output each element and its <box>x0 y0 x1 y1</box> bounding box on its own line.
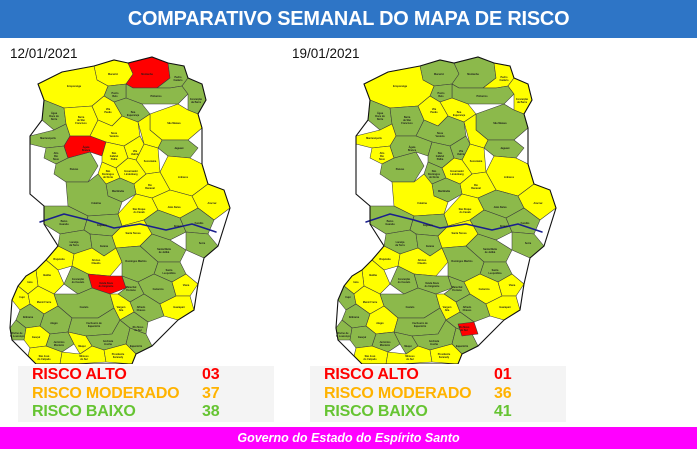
svg-text:Floriano: Floriano <box>126 289 136 292</box>
svg-text:Kennedy: Kennedy <box>113 356 124 359</box>
svg-text:Palha: Palha <box>437 158 444 161</box>
risk-low-value-right: 41 <box>494 403 554 421</box>
svg-text:Norte: Norte <box>377 118 384 121</box>
svg-text:Leopoldina: Leopoldina <box>489 272 503 275</box>
muni-serra <box>512 232 544 258</box>
svg-text:Castelo: Castelo <box>406 306 415 309</box>
svg-text:Palha: Palha <box>111 158 118 161</box>
svg-text:Ibitirama: Ibitirama <box>349 316 360 319</box>
svg-text:Canário: Canário <box>173 79 183 82</box>
svg-text:Itapemirim: Itapemirim <box>456 345 469 348</box>
svg-text:Mucurici: Mucurici <box>434 73 444 76</box>
page-footer: Governo do Estado do Espírito Santo <box>0 427 697 449</box>
svg-text:do Sul: do Sul <box>406 358 414 361</box>
svg-text:do Canaã: do Canaã <box>460 211 472 214</box>
svg-text:Itarana: Itarana <box>100 245 109 248</box>
svg-text:da Barra: da Barra <box>191 101 202 104</box>
stat-row-low-right: RISCO BAIXO 41 <box>310 403 566 422</box>
svg-text:Montanha: Montanha <box>141 73 153 76</box>
risk-high-label-right: RISCO ALTO <box>310 366 494 384</box>
svg-text:Ibiraçu: Ibiraçu <box>174 225 183 228</box>
svg-text:S. Lourenço: S. Lourenço <box>10 335 25 338</box>
svg-text:Itapemirim: Itapemirim <box>414 325 427 328</box>
svg-text:Bananal: Bananal <box>471 187 481 190</box>
svg-text:Lindenberg: Lindenberg <box>450 173 464 176</box>
svg-text:Belo: Belo <box>112 95 118 98</box>
svg-text:Guandu: Guandu <box>59 223 69 226</box>
stat-row-moderate-left: RISCO MODERADO 37 <box>18 385 274 404</box>
svg-text:Sooretama: Sooretama <box>144 160 157 163</box>
svg-text:Domingos Martins: Domingos Martins <box>451 260 473 263</box>
svg-text:Colatina: Colatina <box>417 202 427 205</box>
svg-text:Alegre: Alegre <box>50 322 58 325</box>
svg-text:Venécia: Venécia <box>109 135 119 138</box>
svg-text:Muniz Freire: Muniz Freire <box>37 301 52 304</box>
svg-text:Pancas: Pancas <box>396 168 405 171</box>
page-title: COMPARATIVO SEMANAL DO MAPA DE RISCO <box>128 7 570 31</box>
svg-text:Colatina: Colatina <box>91 202 101 205</box>
risk-low-label-right: RISCO BAIXO <box>310 403 494 421</box>
svg-text:Alta: Alta <box>119 309 124 312</box>
svg-text:Muniz Freire: Muniz Freire <box>363 301 378 304</box>
svg-text:Pinheiros: Pinheiros <box>476 95 488 98</box>
svg-text:Francisco: Francisco <box>75 122 87 125</box>
svg-text:Muqui: Muqui <box>404 345 411 348</box>
svg-text:Esperança: Esperança <box>453 114 466 117</box>
svg-text:do Sul: do Sul <box>80 358 88 361</box>
svg-text:Valério: Valério <box>457 153 466 156</box>
svg-text:Ecoporanga: Ecoporanga <box>393 85 408 88</box>
svg-text:Brejetuba: Brejetuba <box>53 258 65 261</box>
stat-row-high-right: RISCO ALTO 01 <box>310 366 566 385</box>
map-right-19-01: Mucurici Montanha Pedro Canário Pinheiro… <box>328 44 658 364</box>
risk-moderate-label-left: RISCO MODERADO <box>18 385 202 403</box>
svg-text:Itarana: Itarana <box>426 245 435 248</box>
svg-text:Montanha: Montanha <box>467 73 479 76</box>
svg-text:Monteiro: Monteiro <box>54 344 65 347</box>
svg-text:Mantenópolis: Mantenópolis <box>40 137 56 140</box>
stat-row-high-left: RISCO ALTO 03 <box>18 366 274 385</box>
svg-text:São Mateus: São Mateus <box>493 122 507 125</box>
svg-text:Iúna: Iúna <box>27 281 33 284</box>
svg-text:Castelo: Castelo <box>80 306 89 309</box>
svg-text:de Jetibá: de Jetibá <box>159 251 170 254</box>
svg-text:Chaves: Chaves <box>463 309 472 312</box>
svg-text:Guarapari: Guarapari <box>499 306 511 309</box>
svg-text:Fundão: Fundão <box>195 222 204 225</box>
svg-text:Domingos Martins: Domingos Martins <box>125 260 147 263</box>
map-left-svg: Mucurici Montanha Pedro Canário Pinheiro… <box>2 44 332 364</box>
svg-text:Ibatiba: Ibatiba <box>369 274 377 277</box>
risk-map-comparison-page: COMPARATIVO SEMANAL DO MAPA DE RISCO 12/… <box>0 0 697 449</box>
svg-text:Norte: Norte <box>51 118 58 121</box>
svg-text:Iúna: Iúna <box>353 281 359 284</box>
svg-text:de Jetibá: de Jetibá <box>485 251 496 254</box>
svg-text:Linhares: Linhares <box>178 176 189 179</box>
svg-text:Iconha: Iconha <box>104 343 112 346</box>
svg-text:Viana: Viana <box>509 284 516 287</box>
risk-high-value-left: 03 <box>202 366 262 384</box>
svg-text:do Imigrante: do Imigrante <box>425 285 440 288</box>
stats-left-12-01: RISCO ALTO 03 RISCO MODERADO 37 RISCO BA… <box>18 366 274 422</box>
risk-low-value-left: 38 <box>202 403 262 421</box>
svg-text:Jaguaré: Jaguaré <box>500 147 510 150</box>
page-banner: COMPARATIVO SEMANAL DO MAPA DE RISCO <box>0 0 697 38</box>
muni-serra <box>186 232 218 258</box>
svg-text:Monteiro: Monteiro <box>380 344 391 347</box>
svg-text:Irupi: Irupi <box>345 296 351 299</box>
svg-text:Pancas: Pancas <box>70 168 79 171</box>
svg-text:Itaguaçu: Itaguaçu <box>423 224 434 227</box>
svg-text:Itapemirim: Itapemirim <box>130 345 143 348</box>
svg-text:Venécia: Venécia <box>435 135 445 138</box>
risk-low-label-left: RISCO BAIXO <box>18 403 202 421</box>
svg-text:Mantenópolis: Mantenópolis <box>366 137 382 140</box>
risk-moderate-label-right: RISCO MODERADO <box>310 385 494 403</box>
svg-text:Aracruz: Aracruz <box>207 202 217 205</box>
svg-text:Francisco: Francisco <box>401 122 413 125</box>
svg-text:Ibitirama: Ibitirama <box>23 316 34 319</box>
svg-text:da Barra: da Barra <box>517 101 528 104</box>
svg-text:Alegre: Alegre <box>376 322 384 325</box>
svg-text:Cariacica: Cariacica <box>479 288 490 291</box>
svg-text:Itapemirim: Itapemirim <box>88 325 101 328</box>
svg-text:Guarapari: Guarapari <box>173 306 185 309</box>
svg-text:Branca: Branca <box>82 149 91 152</box>
svg-text:do Sul: do Sul <box>460 329 468 332</box>
svg-text:Santa Teresa: Santa Teresa <box>452 232 468 235</box>
svg-text:Marilândia: Marilândia <box>112 190 125 193</box>
svg-text:Esperança: Esperança <box>127 114 140 117</box>
svg-text:Cariacica: Cariacica <box>153 288 164 291</box>
stat-row-moderate-right: RISCO MODERADO 36 <box>310 385 566 404</box>
svg-text:do Calçado: do Calçado <box>37 358 51 361</box>
svg-text:Guaçuí: Guaçuí <box>32 336 41 339</box>
svg-text:Bananal: Bananal <box>145 187 155 190</box>
svg-text:Muqui: Muqui <box>78 345 85 348</box>
svg-text:Leopoldina: Leopoldina <box>163 272 177 275</box>
map-left-12-01: Mucurici Montanha Pedro Canário Pinheiro… <box>2 44 332 364</box>
svg-text:Lindenberg: Lindenberg <box>124 173 138 176</box>
svg-text:Alta: Alta <box>445 309 450 312</box>
svg-text:Aracruz: Aracruz <box>533 202 543 205</box>
svg-text:Fundão: Fundão <box>521 222 530 225</box>
svg-text:Valério: Valério <box>131 153 140 156</box>
svg-text:João Neiva: João Neiva <box>168 206 182 209</box>
svg-text:Jaguaré: Jaguaré <box>174 147 184 150</box>
svg-text:Canário: Canário <box>499 79 509 82</box>
svg-text:do Calçado: do Calçado <box>363 358 377 361</box>
svg-text:Belo: Belo <box>438 95 444 98</box>
svg-text:Branca: Branca <box>408 149 417 152</box>
svg-text:do Norte: do Norte <box>429 176 440 179</box>
svg-text:do Canaã: do Canaã <box>134 211 146 214</box>
svg-text:Cláudio: Cláudio <box>418 262 427 265</box>
svg-text:Floriano: Floriano <box>452 289 462 292</box>
svg-text:Mucurici: Mucurici <box>108 73 118 76</box>
svg-text:Pavão: Pavão <box>430 111 438 114</box>
svg-text:do Castelo: do Castelo <box>398 281 411 284</box>
svg-text:Guandu: Guandu <box>385 223 395 226</box>
svg-text:da Terra: da Terra <box>69 244 79 247</box>
svg-text:Pinheiros: Pinheiros <box>150 95 162 98</box>
svg-text:do Imigrante: do Imigrante <box>99 285 114 288</box>
svg-text:do Castelo: do Castelo <box>72 281 85 284</box>
svg-text:Novo: Novo <box>53 158 60 161</box>
risk-moderate-value-right: 36 <box>494 385 554 403</box>
svg-text:Ecoporanga: Ecoporanga <box>67 85 82 88</box>
svg-text:Itaguaçu: Itaguaçu <box>97 224 108 227</box>
footer-text: Governo do Estado do Espírito Santo <box>237 431 459 445</box>
svg-text:Pavão: Pavão <box>104 111 112 114</box>
stat-row-low-left: RISCO BAIXO 38 <box>18 403 274 422</box>
svg-text:Kennedy: Kennedy <box>439 356 450 359</box>
map-right-svg: Mucurici Montanha Pedro Canário Pinheiro… <box>328 44 658 364</box>
svg-text:Ibatiba: Ibatiba <box>43 274 51 277</box>
svg-text:Santa Teresa: Santa Teresa <box>126 232 142 235</box>
svg-text:Serra: Serra <box>525 242 532 245</box>
svg-text:Irupi: Irupi <box>19 296 25 299</box>
svg-text:São Mateus: São Mateus <box>167 122 181 125</box>
svg-text:João Neiva: João Neiva <box>494 206 508 209</box>
svg-text:do Norte: do Norte <box>103 176 114 179</box>
svg-text:Chaves: Chaves <box>137 309 146 312</box>
svg-text:Marilândia: Marilândia <box>438 190 451 193</box>
svg-text:Serra: Serra <box>199 242 206 245</box>
svg-text:Cláudio: Cláudio <box>92 262 101 265</box>
risk-high-label-left: RISCO ALTO <box>18 366 202 384</box>
svg-text:da Terra: da Terra <box>395 244 405 247</box>
svg-text:Iconha: Iconha <box>430 343 438 346</box>
svg-text:do Sul: do Sul <box>134 329 142 332</box>
svg-text:Ibiraçu: Ibiraçu <box>500 225 509 228</box>
svg-text:S. Lourenço: S. Lourenço <box>336 335 351 338</box>
risk-moderate-value-left: 37 <box>202 385 262 403</box>
svg-text:Guaçuí: Guaçuí <box>358 336 367 339</box>
stats-right-19-01: RISCO ALTO 01 RISCO MODERADO 36 RISCO BA… <box>310 366 566 422</box>
svg-text:Sooretama: Sooretama <box>470 160 483 163</box>
svg-text:Linhares: Linhares <box>504 176 515 179</box>
svg-text:Brejetuba: Brejetuba <box>379 258 391 261</box>
risk-high-value-right: 01 <box>494 366 554 384</box>
svg-text:Viana: Viana <box>183 284 190 287</box>
svg-text:Novo: Novo <box>379 158 386 161</box>
